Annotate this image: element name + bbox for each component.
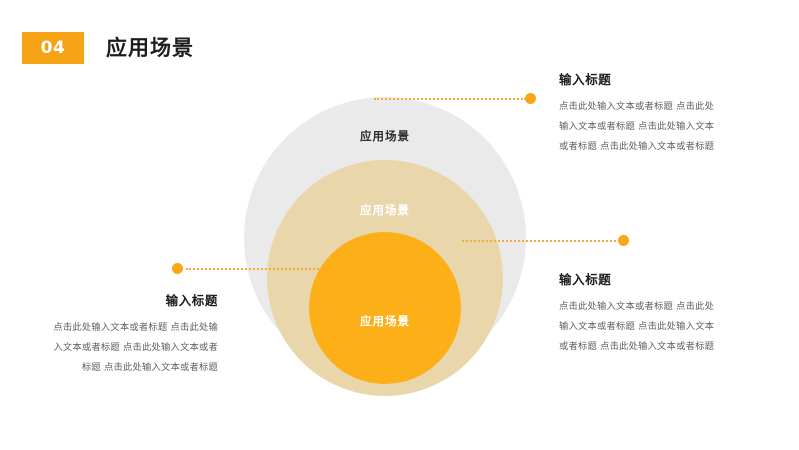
text-block-left-heading: 输入标题 xyxy=(48,293,218,309)
page-title: 应用场景 xyxy=(106,33,194,63)
section-number-badge: 04 xyxy=(22,32,84,64)
text-block-right-bottom: 输入标题 点击此处输入文本或者标题 点击此处输入文本或者标题 点击此处输入文本或… xyxy=(559,272,723,357)
text-block-left: 输入标题 点击此处输入文本或者标题 点击此处输入文本或者标题 点击此处输入文本或… xyxy=(48,293,218,378)
text-block-right-top-heading: 输入标题 xyxy=(559,72,723,88)
connector-dot-left[interactable] xyxy=(172,263,183,274)
circle-inner[interactable] xyxy=(309,232,461,384)
connector-dot-right[interactable] xyxy=(618,235,629,246)
circle-inner-label: 应用场景 xyxy=(244,313,526,329)
connector-dot-top[interactable] xyxy=(525,93,536,104)
slide-canvas: 04 应用场景 应用场景 应用场景 应用场景 输入标题 点击此处输入文本或者标题… xyxy=(0,0,799,450)
connector-line-left xyxy=(186,268,322,270)
text-block-right-top: 输入标题 点击此处输入文本或者标题 点击此处输入文本或者标题 点击此处输入文本或… xyxy=(559,72,723,157)
circle-outer-label: 应用场景 xyxy=(244,128,526,144)
text-block-right-bottom-heading: 输入标题 xyxy=(559,272,723,288)
text-block-left-body: 点击此处输入文本或者标题 点击此处输入文本或者标题 点击此处输入文本或者标题 点… xyxy=(48,318,218,378)
text-block-right-top-body: 点击此处输入文本或者标题 点击此处输入文本或者标题 点击此处输入文本或者标题 点… xyxy=(559,97,723,157)
connector-line-right xyxy=(462,240,620,242)
connector-line-top xyxy=(374,98,526,100)
circle-middle-label: 应用场景 xyxy=(244,202,526,218)
text-block-right-bottom-body: 点击此处输入文本或者标题 点击此处输入文本或者标题 点击此处输入文本或者标题 点… xyxy=(559,297,723,357)
